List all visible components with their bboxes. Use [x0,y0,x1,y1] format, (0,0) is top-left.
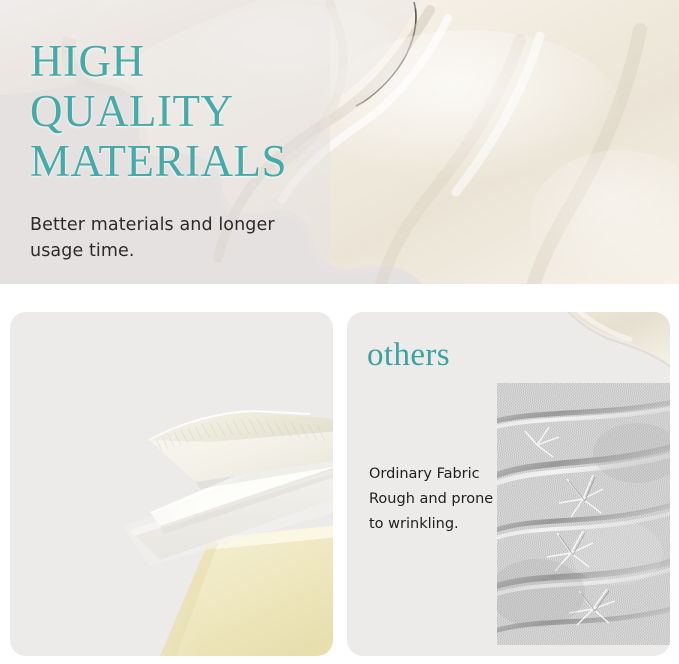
hero-subheadline: Better materials and longer usage time. [30,212,320,264]
others-description-line-3: to wrinkling. [369,512,509,537]
hero-section: HIGH QUALITY MATERIALS Better materials … [0,0,679,284]
layered-material-illustration [10,312,333,656]
headline-line-2: QUALITY [30,86,330,136]
others-title: others [367,338,450,372]
card-others: others Ordinary Fabric Rough and prone t… [347,312,670,656]
others-description-line-1: Ordinary Fabric [369,462,509,487]
headline-line-1: HIGH [30,36,330,86]
comparison-section: ours Oxfoerd cloth Thick cardboard Non w… [0,312,679,664]
product-feature-banner: HIGH QUALITY MATERIALS Better materials … [0,0,679,664]
satin-photo-bleed [540,312,670,382]
section-divider [0,284,679,312]
headline-line-3: MATERIALS [30,136,330,186]
card-ours: ours [10,312,333,656]
rough-fabric-swatch [497,383,670,645]
others-description-line-2: Rough and prone [369,487,509,512]
others-description: Ordinary Fabric Rough and prone to wrink… [369,462,509,537]
rough-fabric-texture [497,383,670,645]
hero-text-block: HIGH QUALITY MATERIALS Better materials … [30,36,330,264]
